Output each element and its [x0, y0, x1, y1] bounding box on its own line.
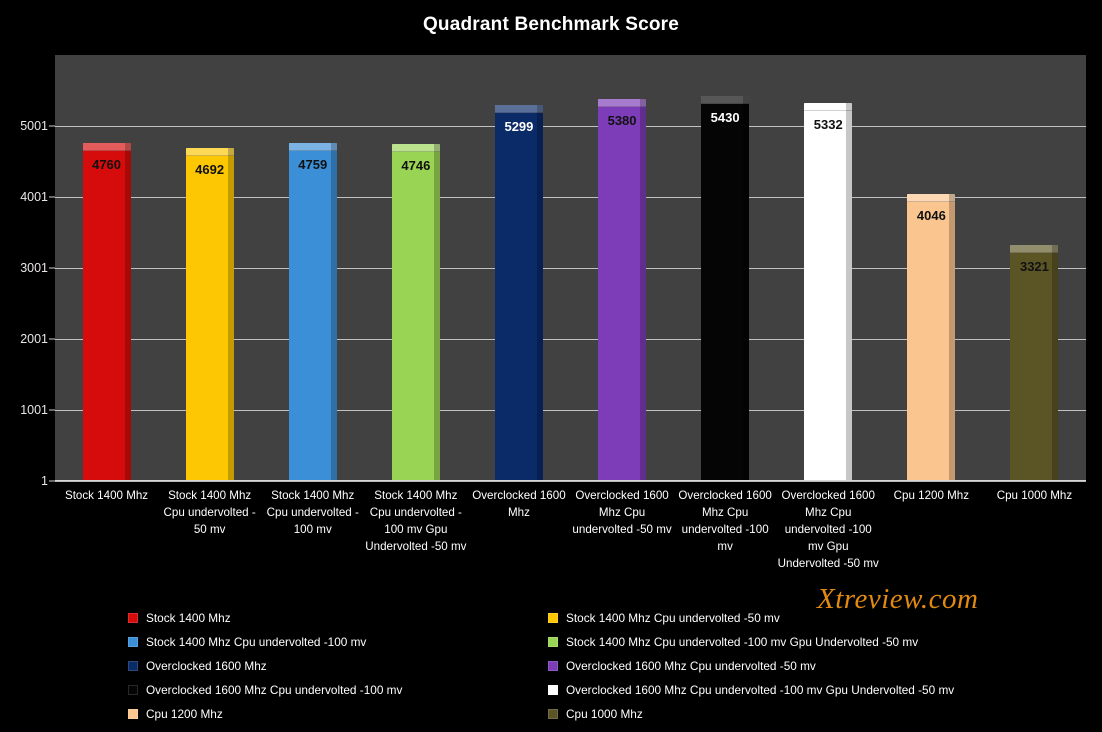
legend-label: Overclocked 1600 Mhz Cpu undervolted -10… [146, 683, 402, 697]
legend-item[interactable]: Cpu 1000 Mhz [548, 702, 954, 726]
legend-item[interactable]: Stock 1400 Mhz Cpu undervolted -100 mv G… [548, 630, 954, 654]
bar-value-label: 5332 [814, 117, 843, 132]
legend-label: Overclocked 1600 Mhz Cpu undervolted -10… [566, 683, 954, 697]
page-title: Quadrant Benchmark Score [0, 14, 1102, 36]
y-axis-tick-label: 1001 [4, 403, 48, 417]
bar[interactable]: 4760 [83, 143, 131, 481]
bar-value-label: 4746 [401, 158, 430, 173]
x-axis-labels: Stock 1400 MhzStock 1400 Mhz Cpu undervo… [55, 487, 1086, 597]
x-axis-category-label: Overclocked 1600 Mhz Cpu undervolted -10… [674, 487, 777, 555]
x-axis-category-label: Stock 1400 Mhz Cpu undervolted - 50 mv [158, 487, 261, 538]
plot-area: 4760469247594746529953805430533240463321 [55, 55, 1086, 481]
y-axis-tick-mark [49, 339, 55, 340]
x-axis-category-label: Cpu 1000 Mhz [983, 487, 1086, 504]
legend-swatch-icon [128, 661, 138, 671]
bar-slot: 4746 [364, 55, 467, 481]
x-axis-category-label: Stock 1400 Mhz [55, 487, 158, 504]
y-axis-tick-mark [49, 410, 55, 411]
x-axis-category-label: Overclocked 1600 Mhz [467, 487, 570, 521]
legend-item[interactable]: Stock 1400 Mhz Cpu undervolted -100 mv [128, 630, 402, 654]
y-axis-tick-mark [49, 481, 55, 482]
legend-label: Stock 1400 Mhz [146, 611, 231, 625]
x-axis-category-label: Cpu 1200 Mhz [880, 487, 983, 504]
y-axis-tick-mark [49, 197, 55, 198]
legend-label: Overclocked 1600 Mhz Cpu undervolted -50… [566, 659, 816, 673]
bar[interactable]: 4746 [392, 144, 440, 481]
y-axis-tick-mark [49, 126, 55, 127]
legend-swatch-icon [548, 709, 558, 719]
legend-swatch-icon [548, 685, 558, 695]
legend-swatch-icon [128, 709, 138, 719]
bar[interactable]: 5380 [598, 99, 646, 481]
bar[interactable]: 3321 [1010, 245, 1058, 481]
legend-column-right: Stock 1400 Mhz Cpu undervolted -50 mvSto… [548, 606, 954, 726]
bar-value-label: 4046 [917, 208, 946, 223]
x-axis-category-label: Stock 1400 Mhz Cpu undervolted - 100 mv … [364, 487, 467, 555]
bar-slot: 5430 [674, 55, 777, 481]
y-axis-tick-mark [49, 268, 55, 269]
bar[interactable]: 4759 [289, 143, 337, 481]
x-axis-category-label: Stock 1400 Mhz Cpu undervolted - 100 mv [261, 487, 364, 538]
legend-swatch-icon [128, 613, 138, 623]
bar-slot: 4760 [55, 55, 158, 481]
bar-slot: 5299 [467, 55, 570, 481]
legend-swatch-icon [548, 661, 558, 671]
y-axis-tick-label: 4001 [4, 190, 48, 204]
legend-label: Cpu 1000 Mhz [566, 707, 643, 721]
legend-item[interactable]: Overclocked 1600 Mhz Cpu undervolted -10… [548, 678, 954, 702]
legend-swatch-icon [548, 613, 558, 623]
legend-label: Cpu 1200 Mhz [146, 707, 223, 721]
y-axis-tick-label: 5001 [4, 119, 48, 133]
bar-slot: 4759 [261, 55, 364, 481]
bar-value-label: 4760 [92, 157, 121, 172]
bar-value-label: 4759 [298, 157, 327, 172]
bar-value-label: 3321 [1020, 259, 1049, 274]
legend-item[interactable]: Overclocked 1600 Mhz Cpu undervolted -50… [548, 654, 954, 678]
bar[interactable]: 5332 [804, 103, 852, 482]
bar-value-label: 5299 [504, 119, 533, 134]
bar[interactable]: 5430 [701, 96, 749, 481]
legend-label: Stock 1400 Mhz Cpu undervolted -50 mv [566, 611, 780, 625]
legend-column-left: Stock 1400 MhzStock 1400 Mhz Cpu undervo… [128, 606, 402, 726]
y-axis-tick-label: 3001 [4, 261, 48, 275]
legend-swatch-icon [548, 637, 558, 647]
bar-value-label: 4692 [195, 162, 224, 177]
bar-value-label: 5380 [608, 113, 637, 128]
bar-slot: 3321 [983, 55, 1086, 481]
legend-item[interactable]: Cpu 1200 Mhz [128, 702, 402, 726]
chart-canvas: Quadrant Benchmark Score 476046924759474… [0, 0, 1102, 732]
legend-item[interactable]: Overclocked 1600 Mhz [128, 654, 402, 678]
x-axis-category-label: Overclocked 1600 Mhz Cpu undervolted -10… [777, 487, 880, 572]
bar[interactable]: 4046 [907, 194, 955, 481]
bar[interactable]: 4692 [186, 148, 234, 481]
bar-slot: 4692 [158, 55, 261, 481]
legend-label: Stock 1400 Mhz Cpu undervolted -100 mv [146, 635, 366, 649]
y-axis-tick-label: 2001 [4, 332, 48, 346]
legend-item[interactable]: Overclocked 1600 Mhz Cpu undervolted -10… [128, 678, 402, 702]
legend-swatch-icon [128, 637, 138, 647]
legend-label: Overclocked 1600 Mhz [146, 659, 267, 673]
x-axis-category-label: Overclocked 1600 Mhz Cpu undervolted -50… [571, 487, 674, 538]
watermark: Xtreview.com [817, 583, 978, 616]
bar-slot: 4046 [880, 55, 983, 481]
legend-label: Stock 1400 Mhz Cpu undervolted -100 mv G… [566, 635, 918, 649]
bar-slot: 5380 [571, 55, 674, 481]
y-axis-tick-label: 1 [4, 474, 48, 488]
x-axis-line [55, 480, 1086, 481]
bar[interactable]: 5299 [495, 105, 543, 481]
legend-swatch-icon [128, 685, 138, 695]
bar-value-label: 5430 [711, 110, 740, 125]
bar-slot: 5332 [777, 55, 880, 481]
legend-item[interactable]: Stock 1400 Mhz [128, 606, 402, 630]
gridline [55, 481, 1086, 482]
